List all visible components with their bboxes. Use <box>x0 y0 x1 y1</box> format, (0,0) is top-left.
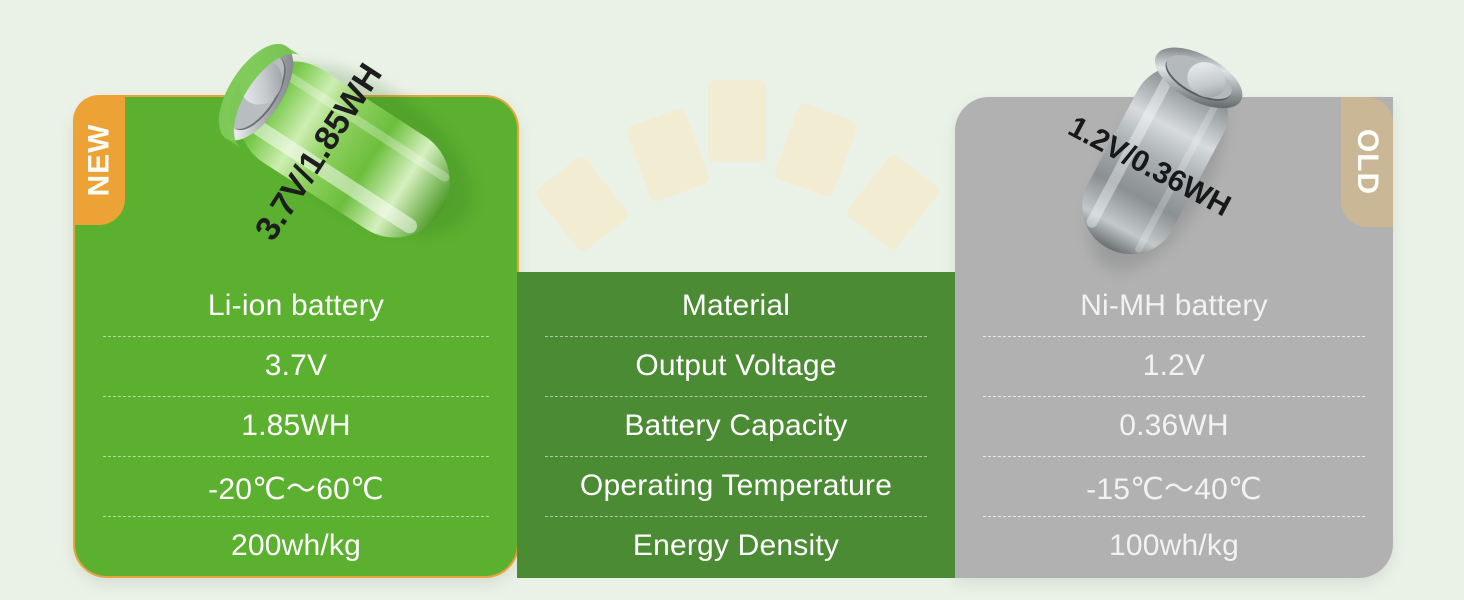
old-voltage-value: 1.2V <box>1143 349 1206 383</box>
old-temperature-value: -15℃～40℃ <box>1086 464 1262 508</box>
new-spec-values: Li-ion battery 3.7V 1.85WH -20℃～60℃ 200w… <box>75 276 517 576</box>
new-voltage-value: 3.7V <box>265 349 328 383</box>
table-row: Battery Capacity <box>517 396 955 456</box>
spec-labels: Material Output Voltage Battery Capacity… <box>517 276 955 576</box>
label-material: Material <box>682 289 790 323</box>
decorative-card-5 <box>845 152 942 252</box>
label-output-voltage: Output Voltage <box>635 349 836 383</box>
table-row: Operating Temperature <box>517 456 955 516</box>
table-row: 1.2V <box>955 336 1393 396</box>
old-badge-label: OLD <box>1350 129 1384 195</box>
old-capacity-value: 0.36WH <box>1119 409 1229 443</box>
li-ion-battery-image: 3.7V/1.85WH <box>160 10 530 280</box>
new-badge: NEW <box>73 95 125 225</box>
table-row: 100wh/kg <box>955 516 1393 576</box>
new-capacity-value: 1.85WH <box>241 409 351 443</box>
new-energy-density-value: 200wh/kg <box>231 529 361 563</box>
decorative-card-2 <box>625 107 711 203</box>
table-row: Material <box>517 276 955 336</box>
label-energy-density: Energy Density <box>633 529 839 563</box>
table-row: 3.7V <box>75 336 517 396</box>
table-row: 1.85WH <box>75 396 517 456</box>
new-badge-label: NEW <box>82 124 116 197</box>
table-row: -20℃～60℃ <box>75 456 517 516</box>
table-row: 0.36WH <box>955 396 1393 456</box>
old-badge: OLD <box>1341 97 1393 227</box>
decorative-card-1 <box>534 154 631 254</box>
new-temperature-value: -20℃～60℃ <box>208 464 384 508</box>
table-row: Ni-MH battery <box>955 276 1393 336</box>
label-operating-temperature: Operating Temperature <box>580 469 892 503</box>
table-row: Energy Density <box>517 516 955 576</box>
ni-mh-battery-image: 1.2V/0.36WH <box>995 40 1315 280</box>
decorative-card-3 <box>708 80 766 162</box>
table-row: 200wh/kg <box>75 516 517 576</box>
old-energy-density-value: 100wh/kg <box>1109 529 1239 563</box>
old-spec-values: Ni-MH battery 1.2V 0.36WH -15℃～40℃ 100wh… <box>955 276 1393 576</box>
label-battery-capacity: Battery Capacity <box>624 409 847 443</box>
decorative-card-4 <box>773 102 859 198</box>
old-material-value: Ni-MH battery <box>1080 289 1268 323</box>
comparison-infographic: NEW OLD <box>0 0 1464 600</box>
new-material-value: Li-ion battery <box>208 289 384 323</box>
table-row: -15℃～40℃ <box>955 456 1393 516</box>
table-row: Output Voltage <box>517 336 955 396</box>
table-row: Li-ion battery <box>75 276 517 336</box>
